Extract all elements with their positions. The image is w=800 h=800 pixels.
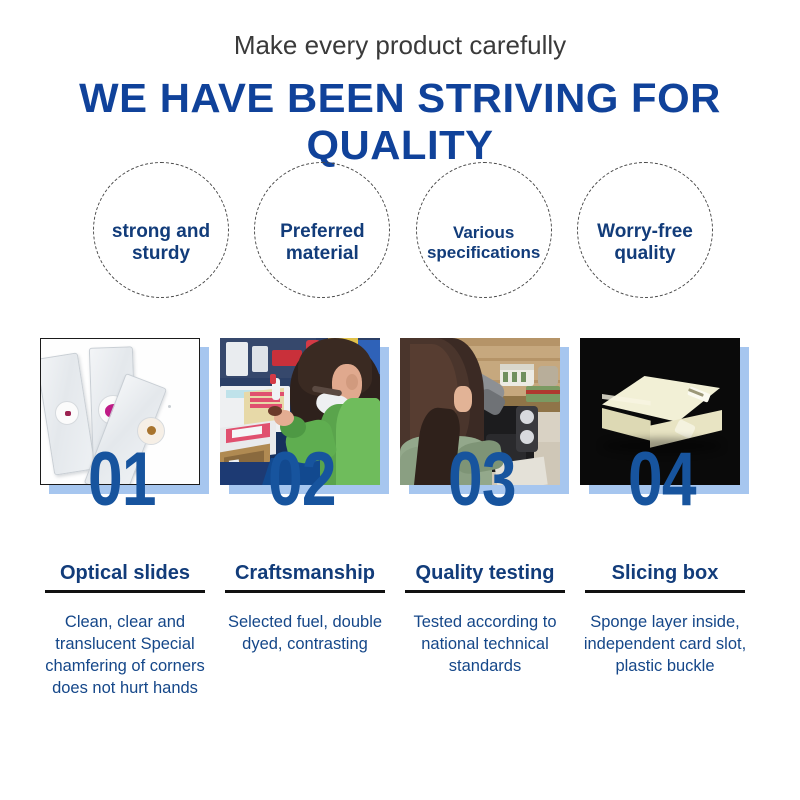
feature-circle-label: strong and sturdy xyxy=(94,221,228,265)
card-title: Slicing box xyxy=(580,562,750,585)
feature-circle-strong-and-sturdy: strong and sturdy xyxy=(93,162,229,298)
card-description: Selected fuel, double dyed, contrasting xyxy=(220,612,390,656)
card-number: 01 xyxy=(88,450,156,509)
product-card-quality-testing: 03 Quality testing Tested according to n… xyxy=(400,338,582,490)
card-description: Clean, clear and translucent Special cha… xyxy=(40,612,210,700)
card-title: Craftsmanship xyxy=(220,562,390,585)
card-divider xyxy=(405,590,565,593)
banner-headline: WE HAVE BEEN STRIVING FOR QUALITY xyxy=(0,75,800,169)
feature-circle-group: strong and sturdy Preferred material Var… xyxy=(93,162,713,298)
banner-subtitle: Make every product carefully xyxy=(0,30,800,61)
product-card-craftsmanship: 02 Craftsmanship Selected fuel, double d… xyxy=(220,338,402,490)
feature-circle-label: Worry-free quality xyxy=(578,221,712,265)
card-title: Optical slides xyxy=(40,562,210,585)
promo-banner: Make every product carefully WE HAVE BEE… xyxy=(0,0,800,800)
card-number: 03 xyxy=(448,450,516,509)
card-title: Quality testing xyxy=(400,562,570,585)
feature-circle-preferred-material: Preferred material xyxy=(254,162,390,298)
card-divider xyxy=(225,590,385,593)
card-divider xyxy=(585,590,745,593)
card-description: Tested according to national technical s… xyxy=(400,612,570,678)
card-number: 02 xyxy=(268,450,336,509)
card-divider xyxy=(45,590,205,593)
product-card-optical-slides: 01 Optical slides Clean, clear and trans… xyxy=(40,338,222,490)
card-description: Sponge layer inside, independent card sl… xyxy=(580,612,750,678)
card-number: 04 xyxy=(628,450,696,509)
feature-circle-label: Preferred material xyxy=(255,221,389,265)
feature-circle-worry-free-quality: Worry-free quality xyxy=(577,162,713,298)
product-card-slicing-box: 04 Slicing box Sponge layer inside, inde… xyxy=(580,338,762,490)
feature-circle-label: Various specifications xyxy=(417,223,551,262)
feature-circle-various-specifications: Various specifications xyxy=(416,162,552,298)
